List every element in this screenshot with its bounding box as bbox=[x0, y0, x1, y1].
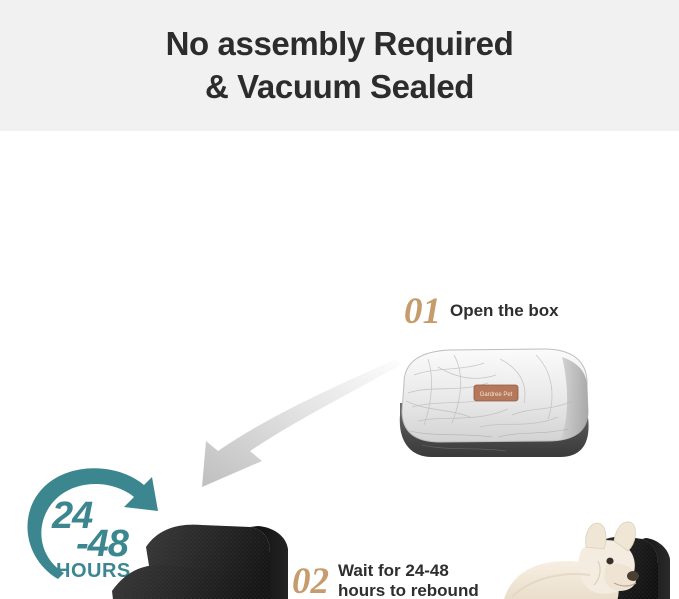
package-label-text: Gardree Pet bbox=[480, 392, 513, 398]
dog-nose bbox=[627, 571, 639, 581]
black-foam-pet-stairs bbox=[82, 513, 297, 599]
step-01-label: Open the box bbox=[450, 301, 559, 321]
header-banner: No assembly Required & Vacuum Sealed bbox=[0, 0, 679, 131]
illustration-canvas: Gardree Pet 01 Open the box bbox=[0, 131, 679, 599]
page-title-line-2: & Vacuum Sealed bbox=[205, 66, 474, 108]
dog-eye bbox=[606, 558, 613, 565]
curved-arrow-down-left bbox=[178, 359, 403, 494]
dog-ear-left bbox=[586, 523, 606, 549]
infographic-page: No assembly Required & Vacuum Sealed bbox=[0, 0, 679, 599]
french-bulldog bbox=[503, 522, 639, 599]
step-02-label-line-2: hours to rebound bbox=[338, 581, 479, 599]
vacuum-sealed-package: Gardree Pet bbox=[392, 345, 596, 463]
step-01-number: 01 bbox=[404, 293, 441, 330]
black-foam-pet-stairs-with-dog bbox=[478, 503, 678, 599]
package-brand-label: Gardree Pet bbox=[474, 385, 518, 401]
arrow-1-shape bbox=[202, 359, 401, 487]
step-02-number: 02 bbox=[292, 563, 329, 599]
page-title-line-1: No assembly Required bbox=[166, 23, 514, 65]
step-02-label-line-1: Wait for 24-48 bbox=[338, 561, 449, 580]
step-01: 01 Open the box bbox=[404, 293, 559, 330]
step-02: 02 Wait for 24-48 hours to rebound bbox=[292, 561, 479, 599]
step-02-label: Wait for 24-48 hours to rebound bbox=[338, 561, 479, 599]
